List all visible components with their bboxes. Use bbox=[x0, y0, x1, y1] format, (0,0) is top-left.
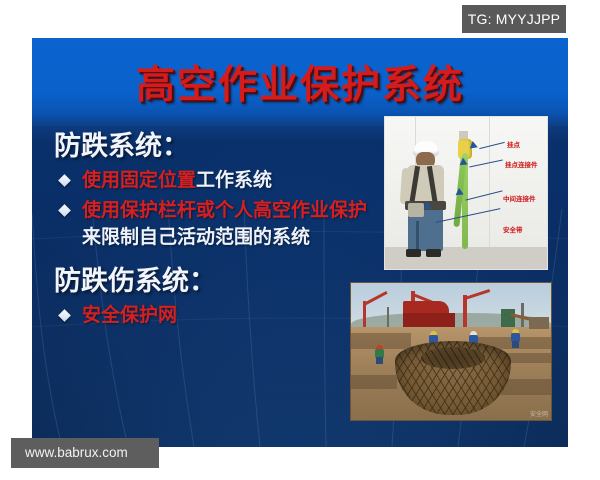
list-item: 使用固定位置工作系统 bbox=[54, 167, 384, 194]
list-item: 使用保护栏杆或个人高空作业保护来限制自己活动范围的系统 bbox=[54, 197, 384, 251]
status-badge: TG: MYYJJPP bbox=[462, 5, 566, 33]
worker-legs bbox=[512, 341, 519, 348]
list-item-text: 使用保护栏杆或个人高空作业保护来限制自己活动范围的系统 bbox=[82, 199, 367, 248]
watermark-bar: www.babrux.com bbox=[11, 438, 159, 468]
presentation-slide: 高空作业保护系统 防跌系统： 使用固定位置工作系统 使用保护栏杆或个人高空作业保… bbox=[32, 38, 568, 447]
annotation-label: 挂点 bbox=[507, 139, 520, 149]
screenshot-canvas: 高空作业保护系统 防跌系统： 使用固定位置工作系统 使用保护栏杆或个人高空作业保… bbox=[0, 0, 600, 480]
list-item-text-red: 使用固定位置 bbox=[82, 169, 196, 191]
list-item-text-red: 使用保护栏杆或个人高空作业保护 bbox=[82, 199, 367, 221]
list-item-text: 安全保护网 bbox=[82, 304, 177, 326]
steel-plate bbox=[351, 375, 397, 389]
arrow-icon bbox=[424, 202, 434, 212]
diamond-bullet-icon bbox=[58, 204, 71, 217]
green-structure bbox=[501, 309, 515, 327]
slide-body: 防跌系统： 使用固定位置工作系统 使用保护栏杆或个人高空作业保护来限制自己活动范… bbox=[54, 130, 384, 330]
annotation-label: 挂点连接件 bbox=[505, 159, 538, 169]
diamond-bullet-icon bbox=[58, 174, 71, 187]
leader-line bbox=[465, 190, 502, 200]
arrow-icon bbox=[470, 141, 479, 151]
list-item-text-white: 工作系统 bbox=[196, 169, 272, 191]
fall-arrest-harness-photo: 挂点 挂点连接件 中间连接件 安全带 bbox=[384, 116, 548, 270]
page-title: 高空作业保护系统 bbox=[32, 64, 568, 108]
list-item-text-white: 来限制自己活动范围的系统 bbox=[82, 226, 310, 248]
photo-annotations: 挂点 挂点连接件 中间连接件 安全带 bbox=[385, 117, 547, 269]
red-vessel-hull bbox=[403, 313, 455, 327]
steel-plate bbox=[501, 379, 551, 395]
safety-net-opening bbox=[421, 347, 485, 369]
annotation-label: 中间连接件 bbox=[503, 193, 536, 203]
worker-figure bbox=[511, 329, 520, 347]
leader-line bbox=[436, 208, 501, 223]
annotation-label: 安全带 bbox=[503, 224, 523, 234]
list-item: 安全保护网 bbox=[54, 302, 384, 329]
section-heading-2: 防跌伤系统： bbox=[54, 265, 384, 299]
crane-mast bbox=[387, 307, 389, 327]
diamond-bullet-icon bbox=[58, 309, 71, 322]
list-item-text-red: 安全保护网 bbox=[82, 304, 177, 326]
arrow-icon bbox=[456, 188, 466, 198]
list-item-text: 使用固定位置工作系统 bbox=[82, 169, 272, 191]
machine-body bbox=[529, 317, 549, 329]
photo-watermark: 安全网 bbox=[530, 409, 548, 418]
worker-legs bbox=[376, 357, 383, 364]
shipyard-safety-net-photo: 安全网 bbox=[350, 282, 552, 421]
worker-figure bbox=[375, 345, 384, 363]
arrow-icon bbox=[460, 158, 470, 168]
leader-line bbox=[469, 159, 502, 167]
section-heading-1: 防跌系统： bbox=[54, 130, 384, 164]
leader-line bbox=[479, 142, 504, 149]
